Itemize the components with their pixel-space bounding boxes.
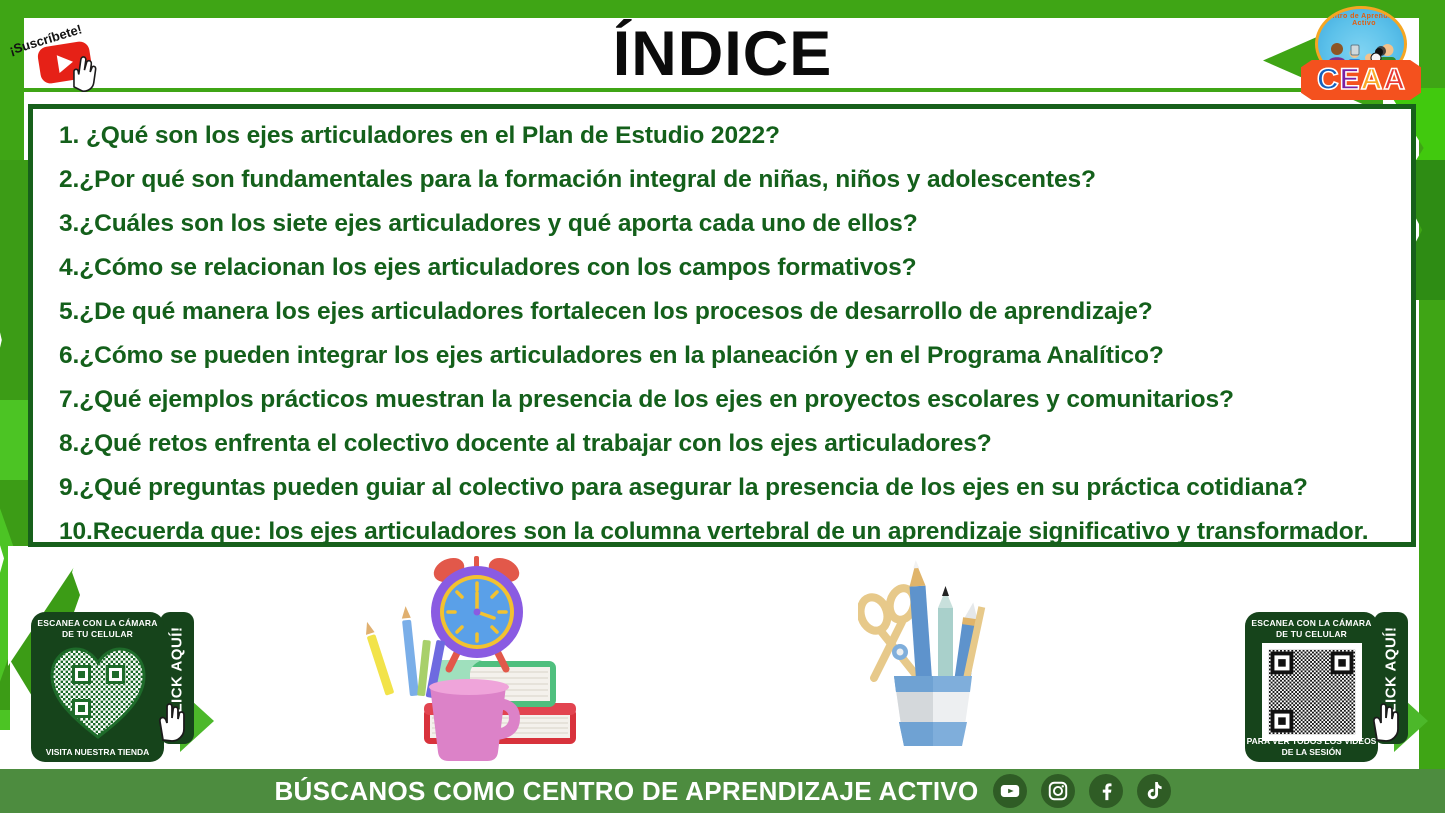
books-clock-mug-pencils-illustration	[352, 548, 588, 763]
index-item-2[interactable]: 2.¿Por qué son fundamentales para la for…	[59, 158, 1399, 202]
hand-cursor-icon-right	[1368, 700, 1402, 742]
index-item-7[interactable]: 7.¿Qué ejemplos prácticos muestran la pr…	[59, 378, 1399, 422]
footer-text: BÚSCANOS COMO CENTRO DE APRENDIZAJE ACTI…	[274, 776, 978, 807]
ceaa-logo: Centro de Aprendizaje Activo C E A A	[1301, 4, 1421, 104]
qr-card-videos[interactable]: ESCANEA CON LA CÁMARA DE TU CELULAR PARA…	[1245, 612, 1378, 762]
qr-heading-right: ESCANEA CON LA CÁMARA DE TU CELULAR	[1245, 618, 1378, 640]
footer-bar: BÚSCANOS COMO CENTRO DE APRENDIZAJE ACTI…	[0, 769, 1445, 813]
pencil-cup-scissors-illustration	[858, 556, 1008, 756]
qr-footer-left: VISITA NUESTRA TIENDA	[31, 747, 164, 758]
hand-cursor-icon-left	[154, 700, 188, 742]
heart-qr-code[interactable]	[48, 643, 148, 741]
index-item-9[interactable]: 9.¿Qué preguntas pueden guiar al colecti…	[59, 466, 1399, 510]
index-list: 1. ¿Qué son los ejes articuladores en el…	[59, 114, 1399, 554]
facebook-icon[interactable]	[1089, 774, 1123, 808]
tiktok-icon[interactable]	[1137, 774, 1171, 808]
square-qr-code[interactable]	[1262, 643, 1362, 741]
qr-footer-right: PARA VER TODOS LOS VIDEOS DE LA SESIÓN	[1245, 736, 1378, 757]
index-item-1[interactable]: 1. ¿Qué son los ejes articuladores en el…	[59, 114, 1399, 158]
index-item-4[interactable]: 4.¿Cómo se relacionan los ejes articulad…	[59, 246, 1399, 290]
logo-letter-1: C	[1317, 65, 1339, 95]
instagram-icon[interactable]	[1041, 774, 1075, 808]
index-item-5[interactable]: 5.¿De qué manera los ejes articuladores …	[59, 290, 1399, 334]
logo-ribbon: C E A A	[1301, 60, 1421, 100]
logo-arc-text: Centro de Aprendizaje Activo	[1318, 13, 1407, 27]
logo-letter-2: E	[1340, 65, 1360, 95]
page-title: ÍNDICE	[0, 18, 1445, 90]
qr-heading-left: ESCANEA CON LA CÁMARA DE TU CELULAR	[31, 618, 164, 640]
index-item-6[interactable]: 6.¿Cómo se pueden integrar los ejes arti…	[59, 334, 1399, 378]
logo-letter-3: A	[1361, 65, 1383, 95]
hand-cursor-icon	[66, 52, 101, 94]
qr-card-store[interactable]: ESCANEA CON LA CÁMARA DE TU CELULAR	[31, 612, 164, 762]
top-green-band	[0, 0, 1445, 18]
subscribe-badge[interactable]: ¡Suscríbete!	[6, 16, 116, 94]
header: ÍNDICE	[0, 18, 1445, 90]
index-item-3[interactable]: 3.¿Cuáles son los siete ejes articulador…	[59, 202, 1399, 246]
index-item-10[interactable]: 10.Recuerda que: los ejes articuladores …	[59, 510, 1399, 554]
index-item-8[interactable]: 8.¿Qué retos enfrenta el colectivo docen…	[59, 422, 1399, 466]
logo-letter-4: A	[1383, 65, 1405, 95]
youtube-icon[interactable]	[993, 774, 1027, 808]
title-underline-band	[24, 88, 1419, 92]
index-box: 1. ¿Qué son los ejes articuladores en el…	[28, 104, 1416, 547]
slide-root: ÍNDICE ¡Suscríbete! Centro de Aprendizaj…	[0, 0, 1445, 813]
